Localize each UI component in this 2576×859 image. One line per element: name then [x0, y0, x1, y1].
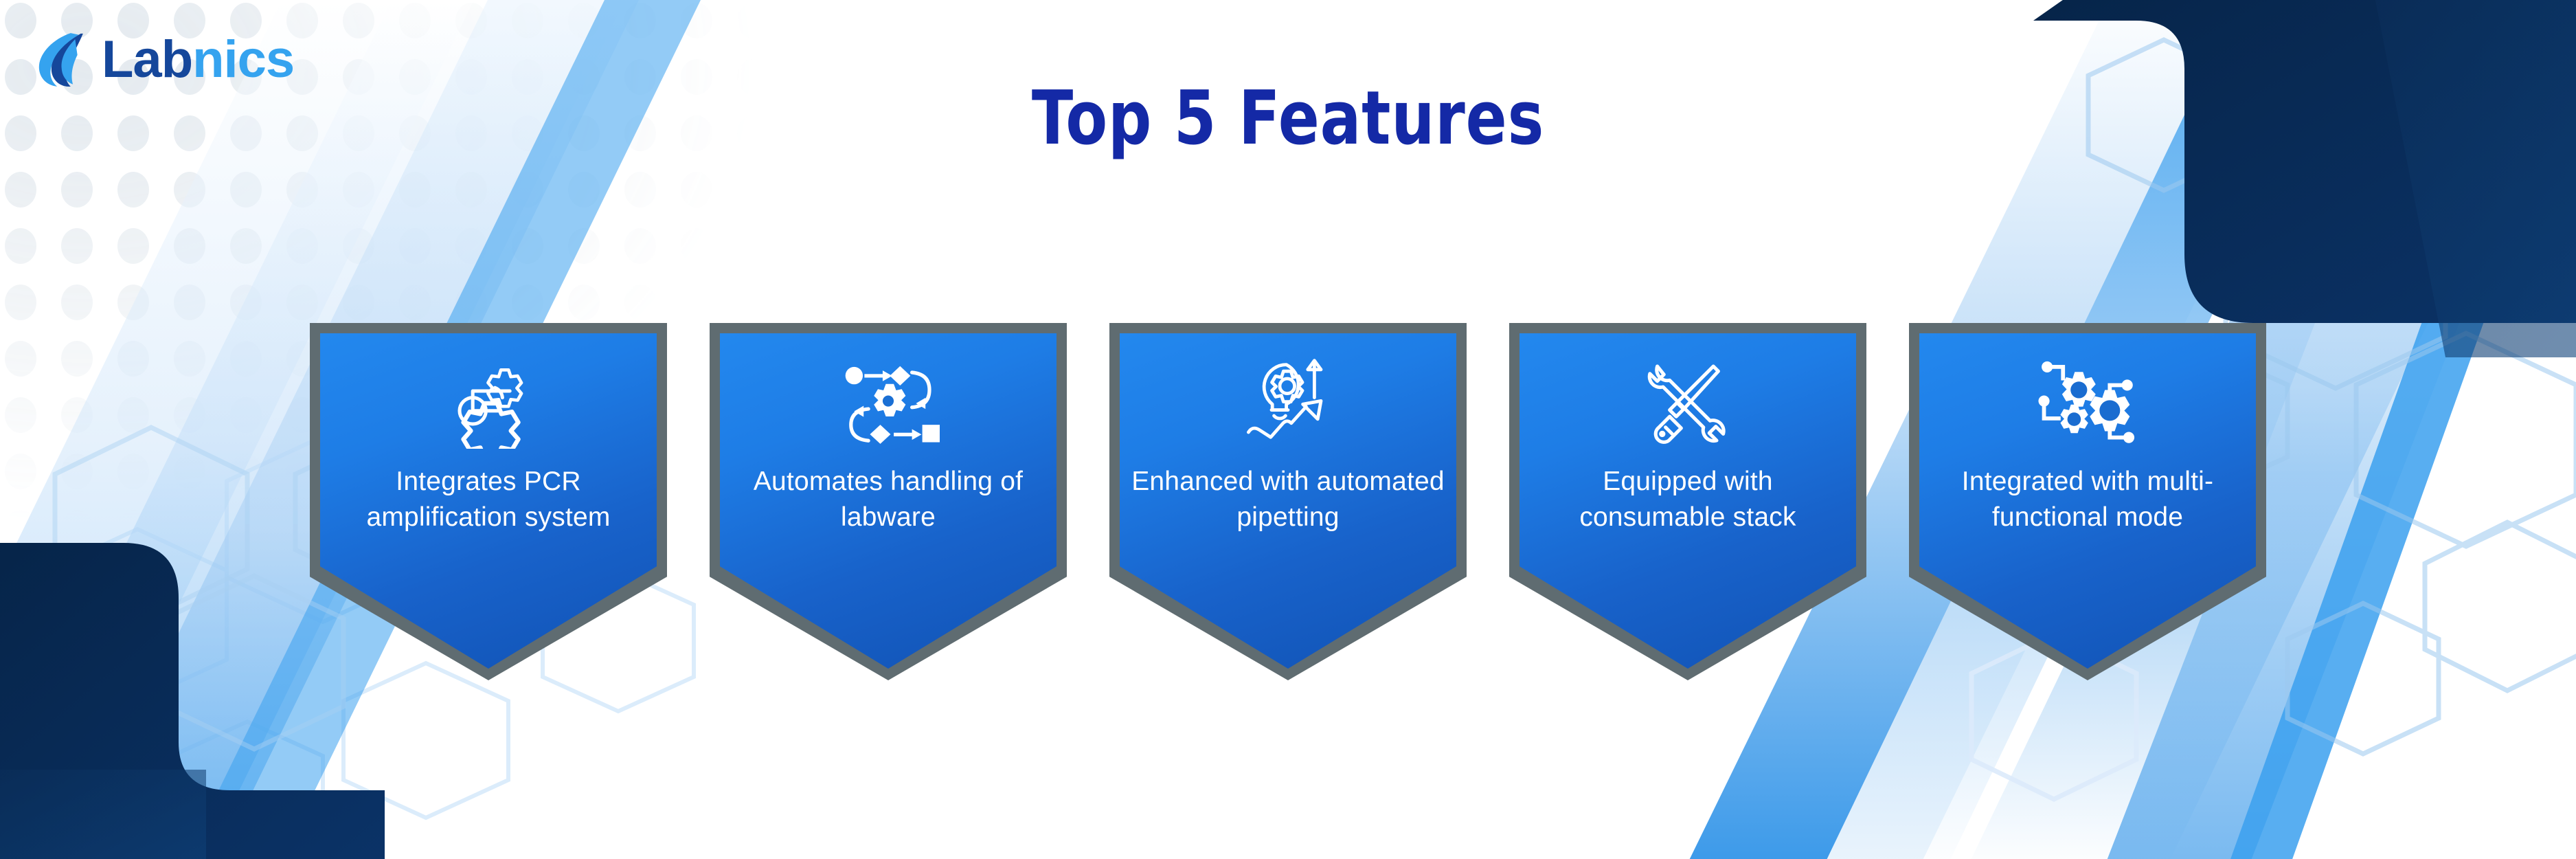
page-title: Top 5 Features [232, 76, 2345, 161]
feature-badge-labware-handling[interactable]: Automates handling of labware [710, 323, 1067, 680]
feature-label: Equipped with consumable stack [1530, 464, 1846, 535]
workflow-automation-icon [837, 358, 940, 449]
brand-name-primary: Lab [102, 36, 192, 83]
feature-badge-automated-pipetting[interactable]: Enhanced with automated pipetting [1109, 323, 1467, 680]
labnics-swoosh-logo-icon [36, 30, 92, 89]
feature-badge-pcr-amplification[interactable]: Integrates PCR amplification system [310, 323, 667, 680]
navy-shape-top-right [2033, 0, 2576, 323]
gears-pcr-icon [437, 358, 540, 449]
badge-inner: Enhanced with automated pipetting [1120, 333, 1456, 669]
feature-badge-row: Integrates PCR amplification system [0, 323, 2576, 680]
feature-label: Automates handling of labware [730, 464, 1047, 535]
gears-circuit-icon [2036, 358, 2139, 449]
navy-shape-bottom-left-2 [0, 770, 206, 859]
feature-badge-consumable-stack[interactable]: Equipped with consumable stack [1509, 323, 1866, 680]
feature-label: Integrates PCR amplification system [330, 464, 647, 535]
badge-inner: Integrates PCR amplification system [320, 333, 657, 669]
feature-badge-multi-functional-mode[interactable]: Integrated with multi-functional mode [1909, 323, 2266, 680]
badge-inner: Equipped with consumable stack [1519, 333, 1856, 669]
lightbulb-gear-growth-icon [1236, 358, 1340, 449]
feature-label: Enhanced with automated pipetting [1130, 464, 1447, 535]
wrench-screwdriver-icon [1636, 358, 1739, 449]
navy-shape-top-right-2 [2370, 0, 2576, 357]
badge-inner: Integrated with multi-functional mode [1919, 333, 2256, 669]
feature-label: Integrated with multi-functional mode [1930, 464, 2246, 535]
badge-inner: Automates handling of labware [720, 333, 1057, 669]
